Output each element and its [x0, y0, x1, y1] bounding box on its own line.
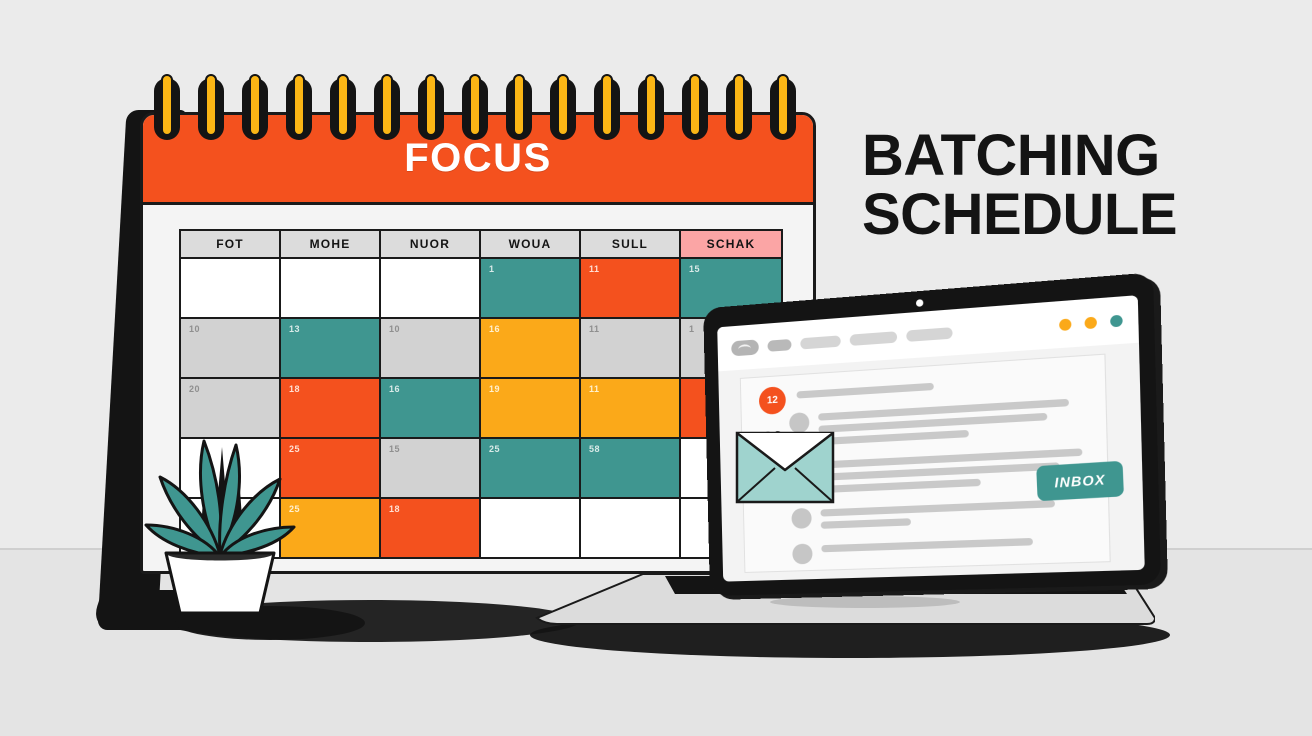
spiral-ring — [154, 78, 180, 140]
calendar-cell-date: 15 — [689, 264, 773, 274]
laptop: 12 — [505, 300, 1165, 630]
calendar-cell[interactable]: 13 — [281, 319, 381, 379]
calendar-day-header: SULL — [581, 231, 681, 259]
calendar-day-header: FOT — [181, 231, 281, 259]
calendar-cell[interactable] — [281, 259, 381, 319]
calendar-cell-date: 16 — [389, 384, 471, 394]
calendar-cell-date: 18 — [389, 504, 471, 514]
calendar-day-header: NUOR — [381, 231, 481, 259]
status-dot-3[interactable] — [1110, 314, 1123, 327]
spiral-ring — [550, 78, 576, 140]
tab-pill-2[interactable] — [800, 335, 841, 349]
status-dot-1[interactable] — [1059, 318, 1071, 331]
spiral-ring — [682, 78, 708, 140]
calendar-day-header-row: FOTMOHENUORWOUASULLSCHAK — [181, 231, 781, 259]
calendar-cell[interactable]: 16 — [381, 379, 481, 439]
status-dot-2[interactable] — [1084, 316, 1097, 329]
calendar-cell[interactable]: 18 — [381, 499, 481, 559]
spiral-binding — [148, 78, 808, 144]
calendar-cell-date: 1 — [489, 264, 571, 274]
calendar-cell-date: 11 — [589, 264, 671, 274]
spiral-ring — [286, 78, 312, 140]
spiral-ring — [330, 78, 356, 140]
spiral-ring — [506, 78, 532, 140]
illustration-scene: FOCUS FOTMOHENUORWOUASULLSCHAK 111151013… — [0, 0, 1312, 736]
spiral-ring — [374, 78, 400, 140]
spiral-ring — [594, 78, 620, 140]
tab-pill-4[interactable] — [906, 327, 952, 342]
page-title: BATCHING SCHEDULE — [862, 126, 1282, 244]
calendar-day-header: SCHAK — [681, 231, 781, 259]
spiral-ring — [418, 78, 444, 140]
avatar — [791, 508, 811, 529]
spiral-ring — [638, 78, 664, 140]
spiral-ring — [242, 78, 268, 140]
calendar-cell[interactable]: 10 — [381, 319, 481, 379]
calendar-cell[interactable]: 10 — [181, 319, 281, 379]
tab-pill-1[interactable] — [767, 338, 791, 351]
calendar-cell-date: 10 — [389, 324, 471, 334]
calendar-cell-date: 25 — [289, 444, 371, 454]
webcam-icon — [915, 299, 922, 307]
calendar-cell-date: 15 — [389, 444, 471, 454]
calendar-cell-date: 25 — [289, 504, 371, 514]
spiral-ring — [462, 78, 488, 140]
avatar — [792, 543, 812, 564]
spiral-ring — [198, 78, 224, 140]
inbox-badge[interactable]: INBOX — [1036, 461, 1124, 502]
spiral-ring — [726, 78, 752, 140]
calendar-cell-date: 20 — [189, 384, 271, 394]
calendar-cell[interactable] — [181, 259, 281, 319]
back-arrow-icon[interactable] — [731, 339, 759, 356]
calendar-cell-date: 18 — [289, 384, 371, 394]
window-status-dots — [1059, 314, 1123, 330]
headline-line-2: SCHEDULE — [862, 185, 1282, 244]
spiral-ring — [770, 78, 796, 140]
calendar-cell-date: 13 — [289, 324, 371, 334]
envelope-icon — [735, 430, 835, 505]
calendar-cell-date: 10 — [189, 324, 271, 334]
potted-succulent-icon — [140, 425, 300, 615]
calendar-cell[interactable]: 15 — [381, 439, 481, 499]
calendar-cell[interactable] — [381, 259, 481, 319]
tab-pill-3[interactable] — [850, 331, 898, 346]
calendar-day-header: WOUA — [481, 231, 581, 259]
headline-line-1: BATCHING — [862, 126, 1282, 185]
calendar-day-header: MOHE — [281, 231, 381, 259]
